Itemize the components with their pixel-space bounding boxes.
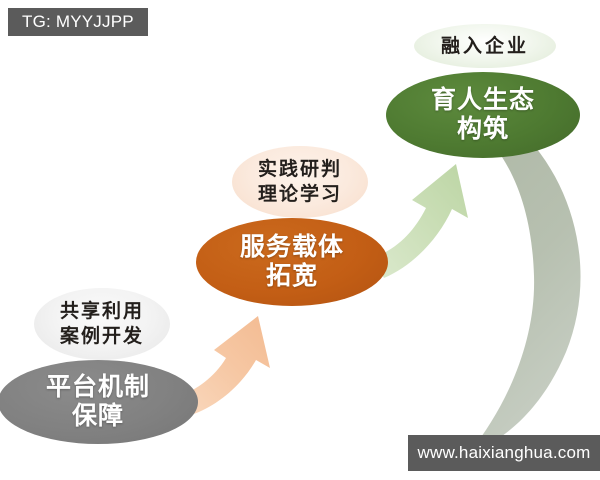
caption-platform-line2: 案例开发 [60,324,144,349]
node-platform-line2: 保障 [72,402,124,431]
node-service[interactable]: 服务载体 拓宽 [196,218,388,306]
caption-platform: 共享利用 案例开发 [34,288,170,360]
node-platform[interactable]: 平台机制 保障 [0,360,198,444]
node-service-line1: 服务载体 [240,233,344,262]
caption-ecology-line1: 融入企业 [441,34,529,59]
caption-service-line2: 理论学习 [258,182,342,207]
caption-service: 实践研判 理论学习 [232,146,368,218]
diagram-canvas: 融入企业 育人生态 构筑 实践研判 理论学习 服务载体 拓宽 共享利用 案例开发… [0,0,600,480]
caption-service-line1: 实践研判 [258,157,342,182]
node-ecology-line1: 育人生态 [431,86,535,115]
node-service-line2: 拓宽 [266,262,318,291]
tg-badge: TG: MYYJJPP [8,8,148,36]
caption-platform-line1: 共享利用 [60,299,144,324]
node-ecology-line2: 构筑 [457,115,509,144]
node-ecology[interactable]: 育人生态 构筑 [386,72,580,158]
site-watermark: www.haixianghua.com [408,435,600,471]
background-swoosh [470,118,581,452]
node-platform-line1: 平台机制 [46,373,150,402]
caption-ecology: 融入企业 [414,24,556,68]
